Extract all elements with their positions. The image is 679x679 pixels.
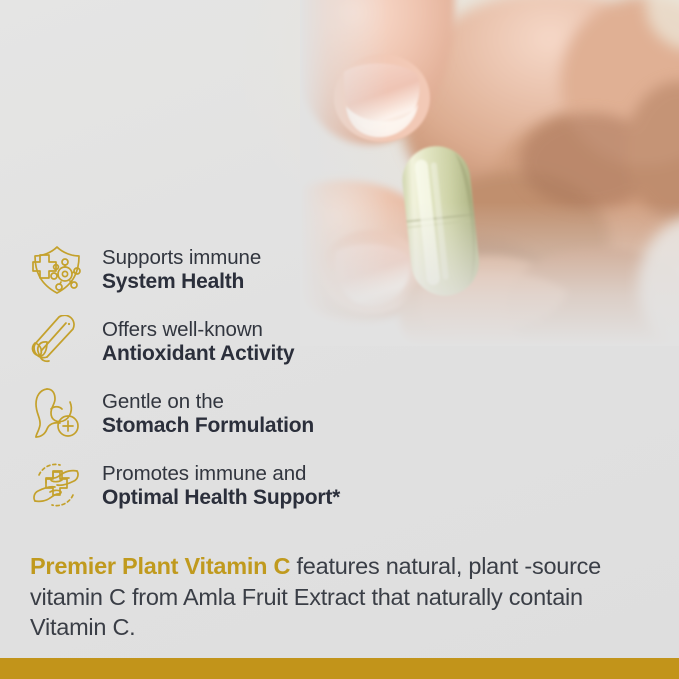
feature-item-system-health: Supports immune System Health (24, 234, 384, 306)
feature-item-stomach-formulation: Gentle on the Stomach Formulation (24, 378, 384, 450)
shield-virus-icon (24, 240, 90, 300)
feature-line1: Gentle on the (102, 390, 314, 414)
feature-item-optimal-health-support: Promotes immune and Optimal Health Suppo… (24, 450, 384, 522)
stomach-cross-icon (24, 384, 90, 444)
feature-line1: Offers well-known (102, 318, 294, 342)
feature-line1: Promotes immune and (102, 462, 340, 486)
summary-paragraph: Premier Plant Vitamin C features natural… (30, 551, 648, 643)
feature-item-antioxidant-activity: Offers well-known Antioxidant Activity (24, 306, 384, 378)
feature-line2: Stomach Formulation (102, 414, 314, 438)
feature-list: Supports immune System Health Offers wel… (24, 234, 384, 522)
feature-text: Supports immune System Health (102, 246, 261, 294)
caring-hands-cross-icon (24, 456, 90, 516)
feature-text: Gentle on the Stomach Formulation (102, 390, 314, 438)
feature-line1: Supports immune (102, 246, 261, 270)
capsule-leaf-icon (24, 312, 90, 372)
feature-text: Offers well-known Antioxidant Activity (102, 318, 294, 366)
bottom-gold-bar (0, 658, 679, 679)
feature-text: Promotes immune and Optimal Health Suppo… (102, 462, 340, 510)
feature-line2: Antioxidant Activity (102, 342, 294, 366)
brand-name: Premier Plant Vitamin C (30, 553, 290, 579)
product-benefits-infographic: Supports immune System Health Offers wel… (0, 0, 679, 679)
feature-line2: Optimal Health Support* (102, 486, 340, 510)
feature-line2: System Health (102, 270, 261, 294)
